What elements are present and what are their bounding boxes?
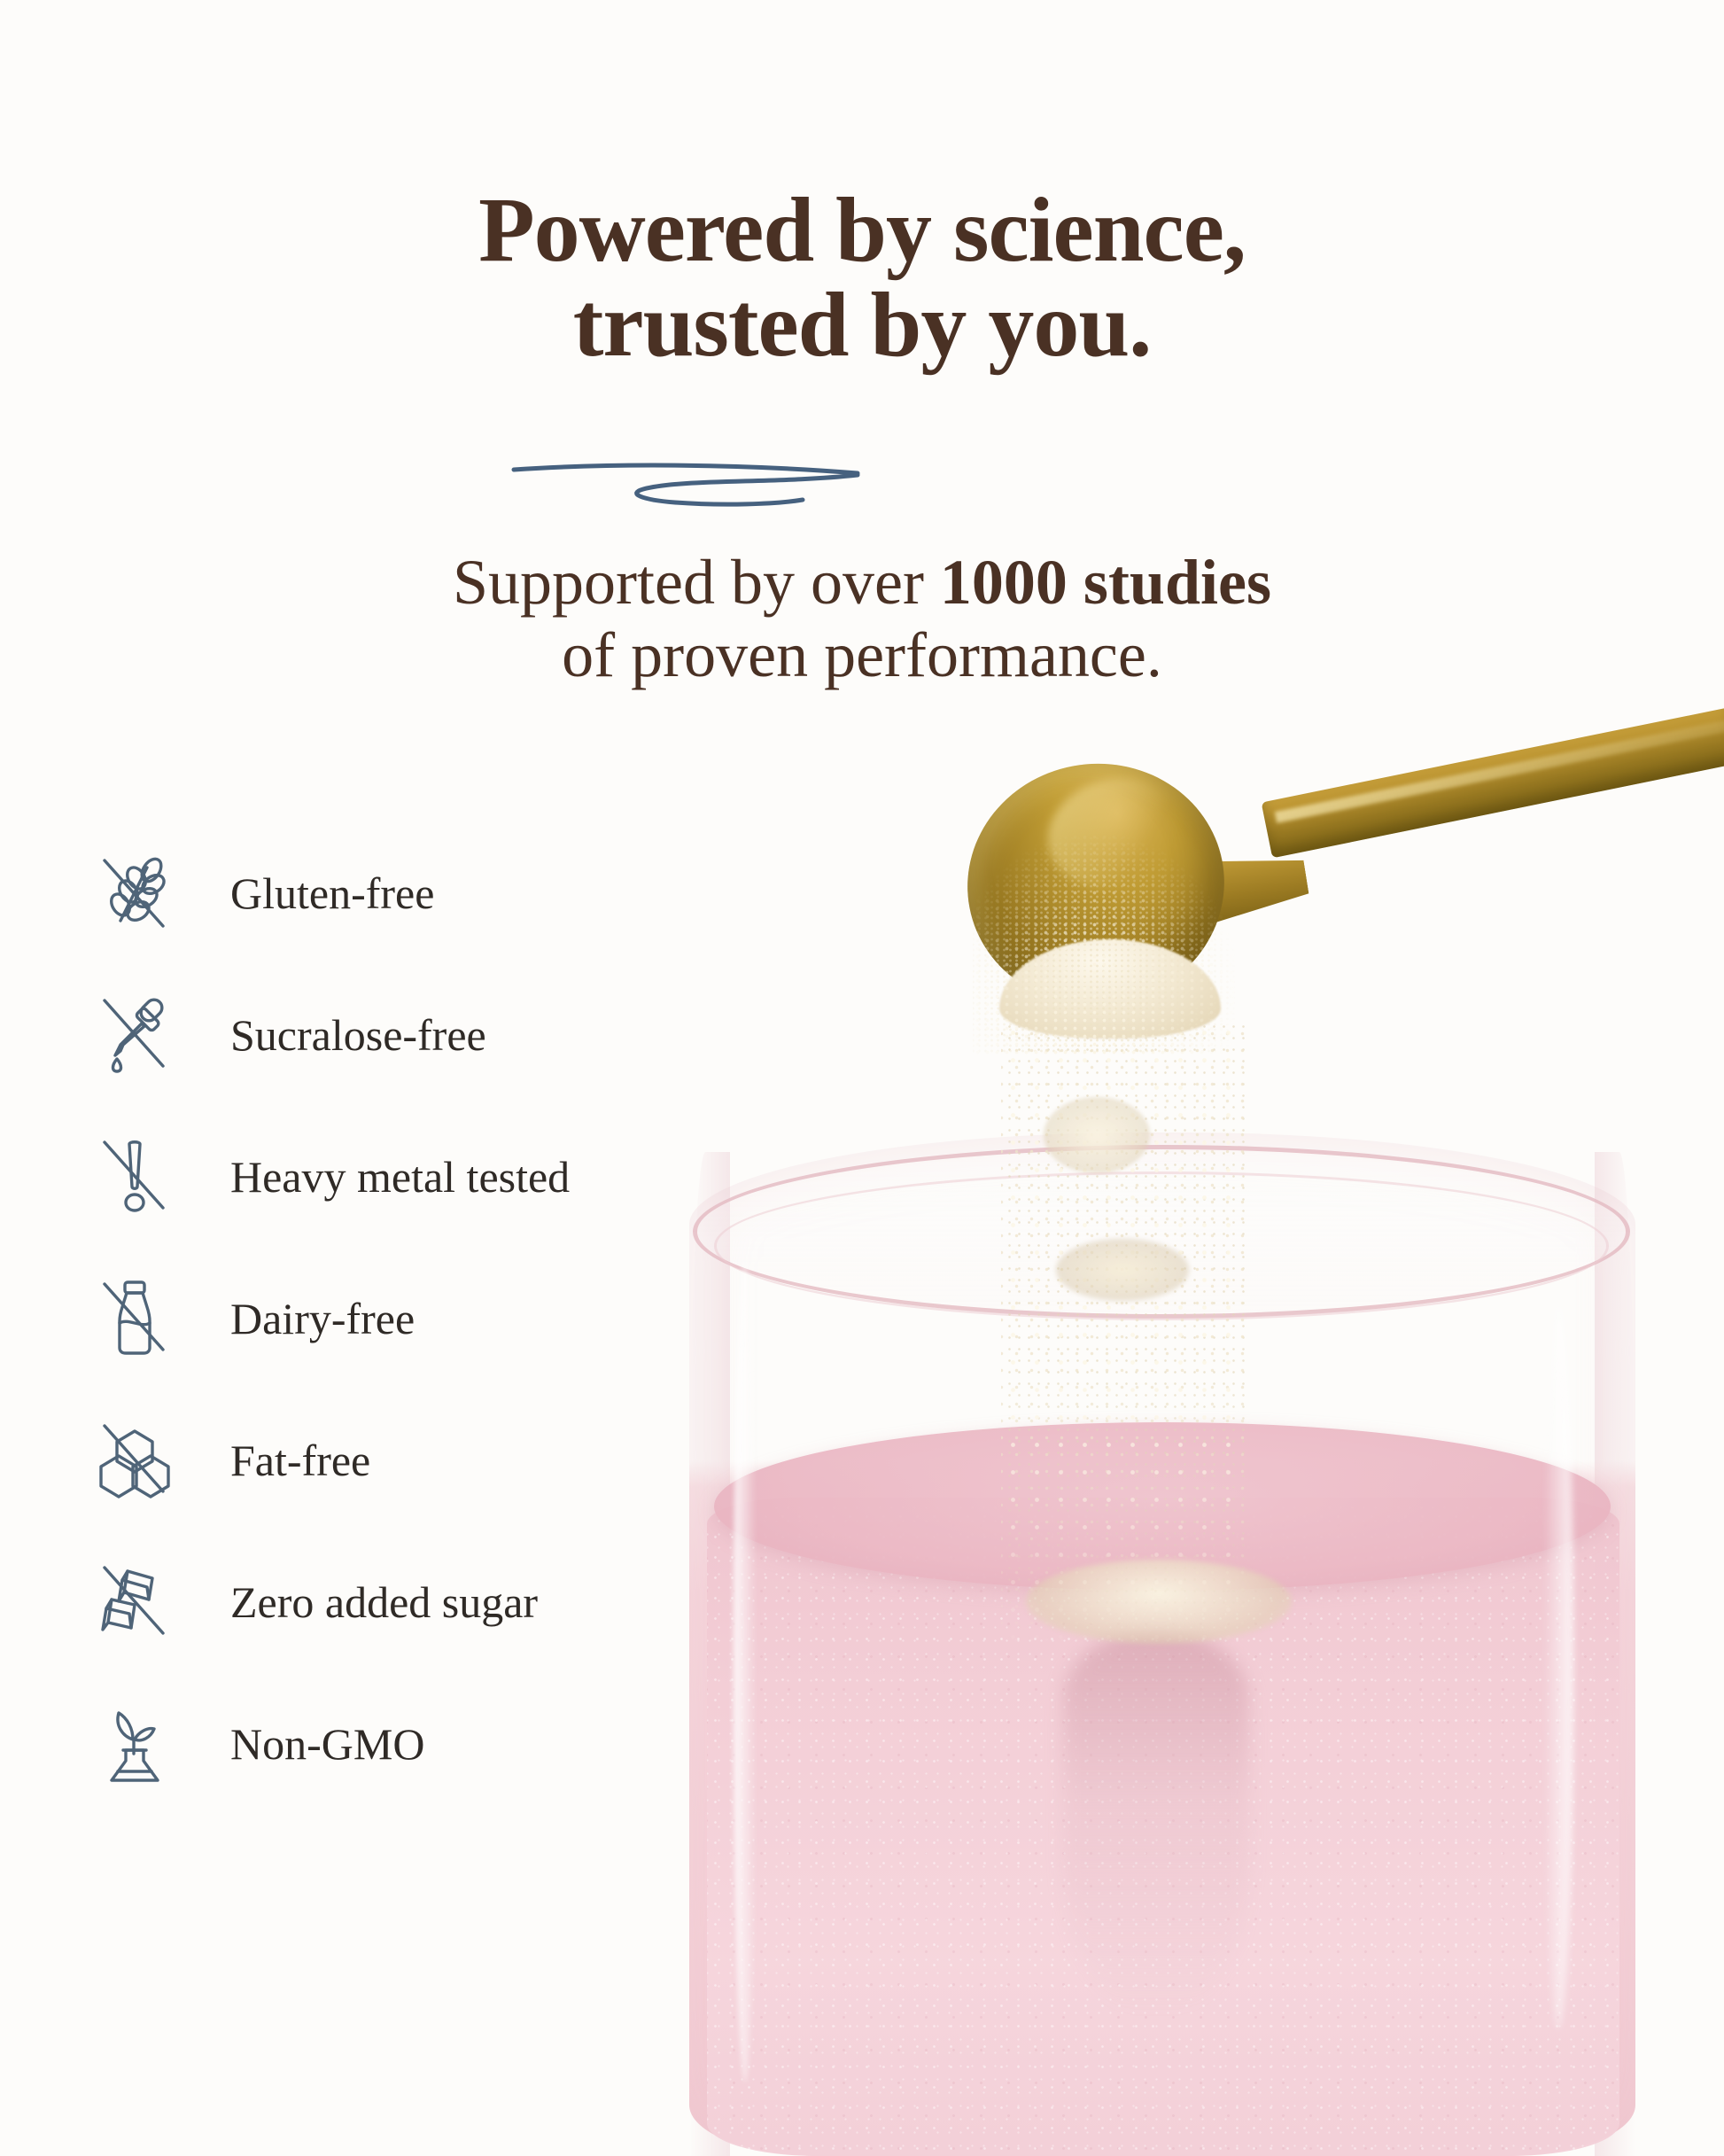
sprout-flask-icon (97, 1702, 172, 1786)
feature-item-non-gmo: Non-GMO (97, 1673, 664, 1815)
feature-item-sucralose-free: Sucralose-free (97, 964, 664, 1106)
feature-label: Non-GMO (230, 1722, 424, 1766)
feature-list: Gluten-free Sucralose-free (97, 822, 664, 1815)
feature-label: Fat-free (230, 1438, 370, 1483)
subtitle-line-2: of proven performance. (562, 619, 1162, 690)
feature-item-gluten-free: Gluten-free (97, 822, 664, 964)
dropper-slashed-icon (97, 993, 172, 1077)
sugar-cubes-slashed-icon (97, 1561, 172, 1644)
feature-item-zero-added-sugar: Zero added sugar (97, 1531, 664, 1673)
headline-line-2: trusted by you. (573, 277, 1151, 372)
exclamation-slashed-icon (97, 1135, 172, 1218)
milk-bottle-slashed-icon (97, 1277, 172, 1360)
subtitle-emphasis: 1000 studies (940, 547, 1271, 618)
wheat-slashed-icon (97, 852, 172, 935)
feature-item-dairy-free: Dairy-free (97, 1248, 664, 1389)
subtitle-prefix: Supported by over (453, 547, 940, 618)
molecule-slashed-icon (97, 1419, 172, 1502)
page-title: Powered by science, trusted by you. (0, 183, 1724, 372)
feature-label: Sucralose-free (230, 1013, 486, 1057)
feature-label: Zero added sugar (230, 1580, 538, 1624)
feature-label: Dairy-free (230, 1296, 415, 1341)
underline-squiggle-icon (510, 454, 865, 514)
feature-label: Heavy metal tested (230, 1155, 570, 1199)
feature-label: Gluten-free (230, 871, 434, 915)
page-subtitle: Supported by over 1000 studies of proven… (0, 546, 1724, 691)
feature-item-heavy-metal-tested: Heavy metal tested (97, 1106, 664, 1248)
feature-item-fat-free: Fat-free (97, 1389, 664, 1531)
headline-line-1: Powered by science, (478, 179, 1246, 281)
